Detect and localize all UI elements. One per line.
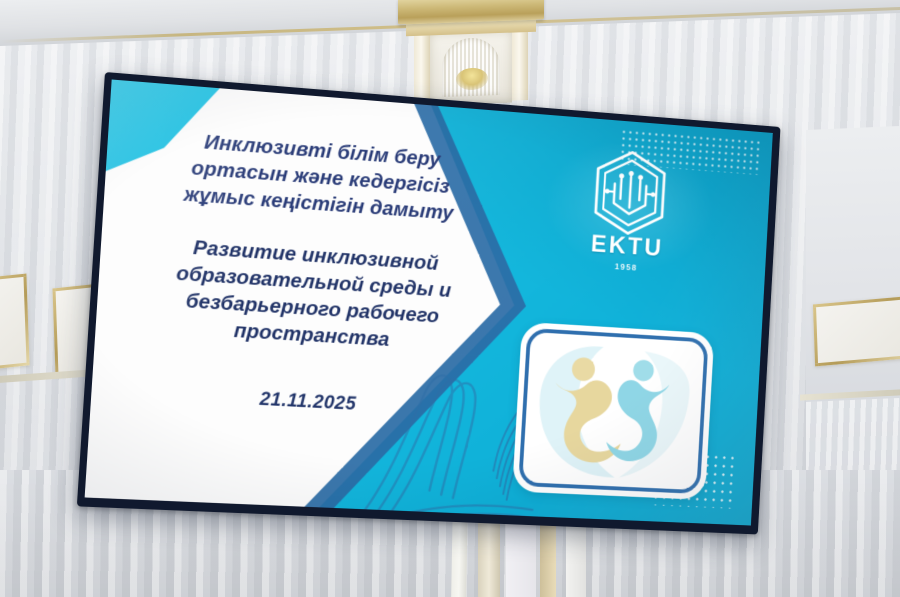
title-russian: Развитие инклюзивной образовательной сре… xyxy=(118,229,505,359)
ektu-logo: EKTU 1958 xyxy=(542,143,715,277)
screen-surface: Инклюзивті білім беру ортасын және кедер… xyxy=(85,80,773,526)
inclusion-two-figures-icon xyxy=(518,328,708,494)
presentation-screen[interactable]: Инклюзивті білім беру ортасын және кедер… xyxy=(77,72,781,534)
slide-text-block: Инклюзивті білім беру ортасын және кедер… xyxy=(113,123,510,423)
screen-perspective-wrapper: Инклюзивті білім беру ортасын және кедер… xyxy=(0,0,900,597)
title-slide: Инклюзивті білім беру ортасын және кедер… xyxy=(85,80,773,526)
slide-date: 21.11.2025 xyxy=(113,381,496,422)
hexagon-circuit-icon xyxy=(588,146,673,239)
conference-hall-scene: Инклюзивті білім беру ортасын және кедер… xyxy=(0,0,900,597)
inclusion-badge xyxy=(512,322,714,500)
